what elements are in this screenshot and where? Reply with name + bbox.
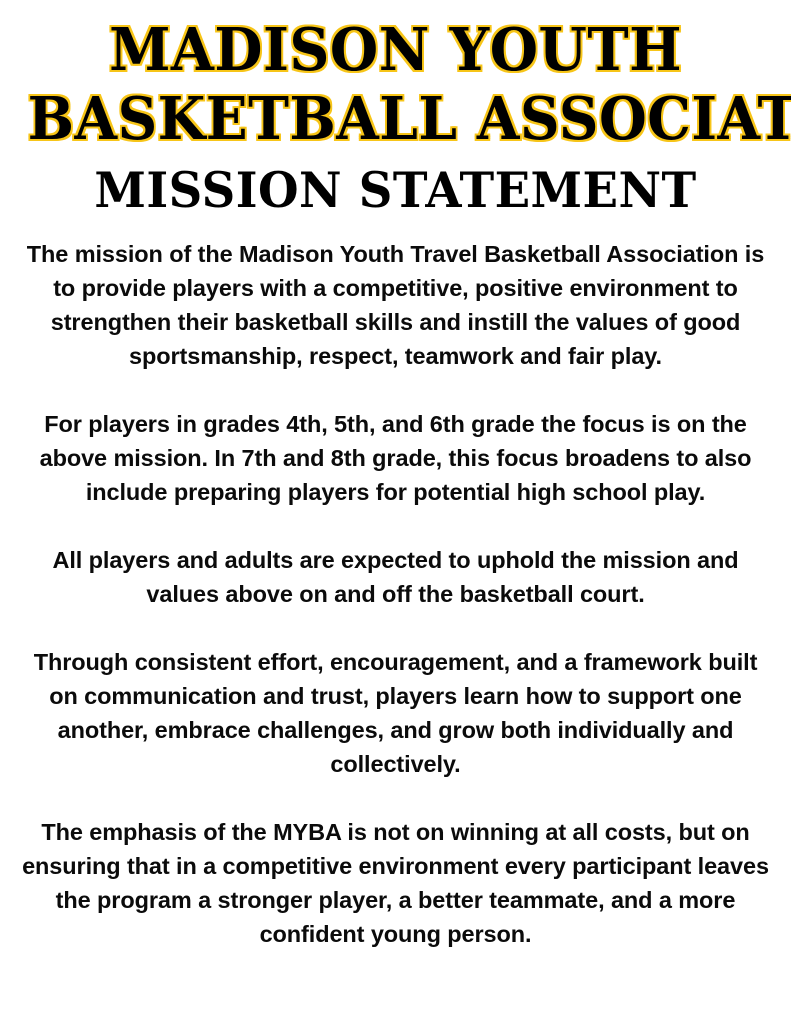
org-title-line-1: MADISON YOUTH <box>24 20 768 79</box>
mission-body: The mission of the Madison Youth Travel … <box>22 215 770 951</box>
mission-paragraph: For players in grades 4th, 5th, and 6th … <box>22 407 770 509</box>
page-title: MISSION STATEMENT <box>20 166 771 215</box>
mission-statement-page: MADISON YOUTH BASKETBALL ASSOCIATION MIS… <box>0 0 791 1024</box>
mission-paragraph: Through consistent effort, encouragement… <box>22 645 770 781</box>
title-block: MADISON YOUTH BASKETBALL ASSOCIATION MIS… <box>0 0 791 215</box>
mission-paragraph: The emphasis of the MYBA is not on winni… <box>22 815 770 951</box>
org-title-line-2: BASKETBALL ASSOCIATION <box>28 89 764 148</box>
mission-paragraph: All players and adults are expected to u… <box>22 543 770 611</box>
mission-paragraph: The mission of the Madison Youth Travel … <box>22 237 770 373</box>
